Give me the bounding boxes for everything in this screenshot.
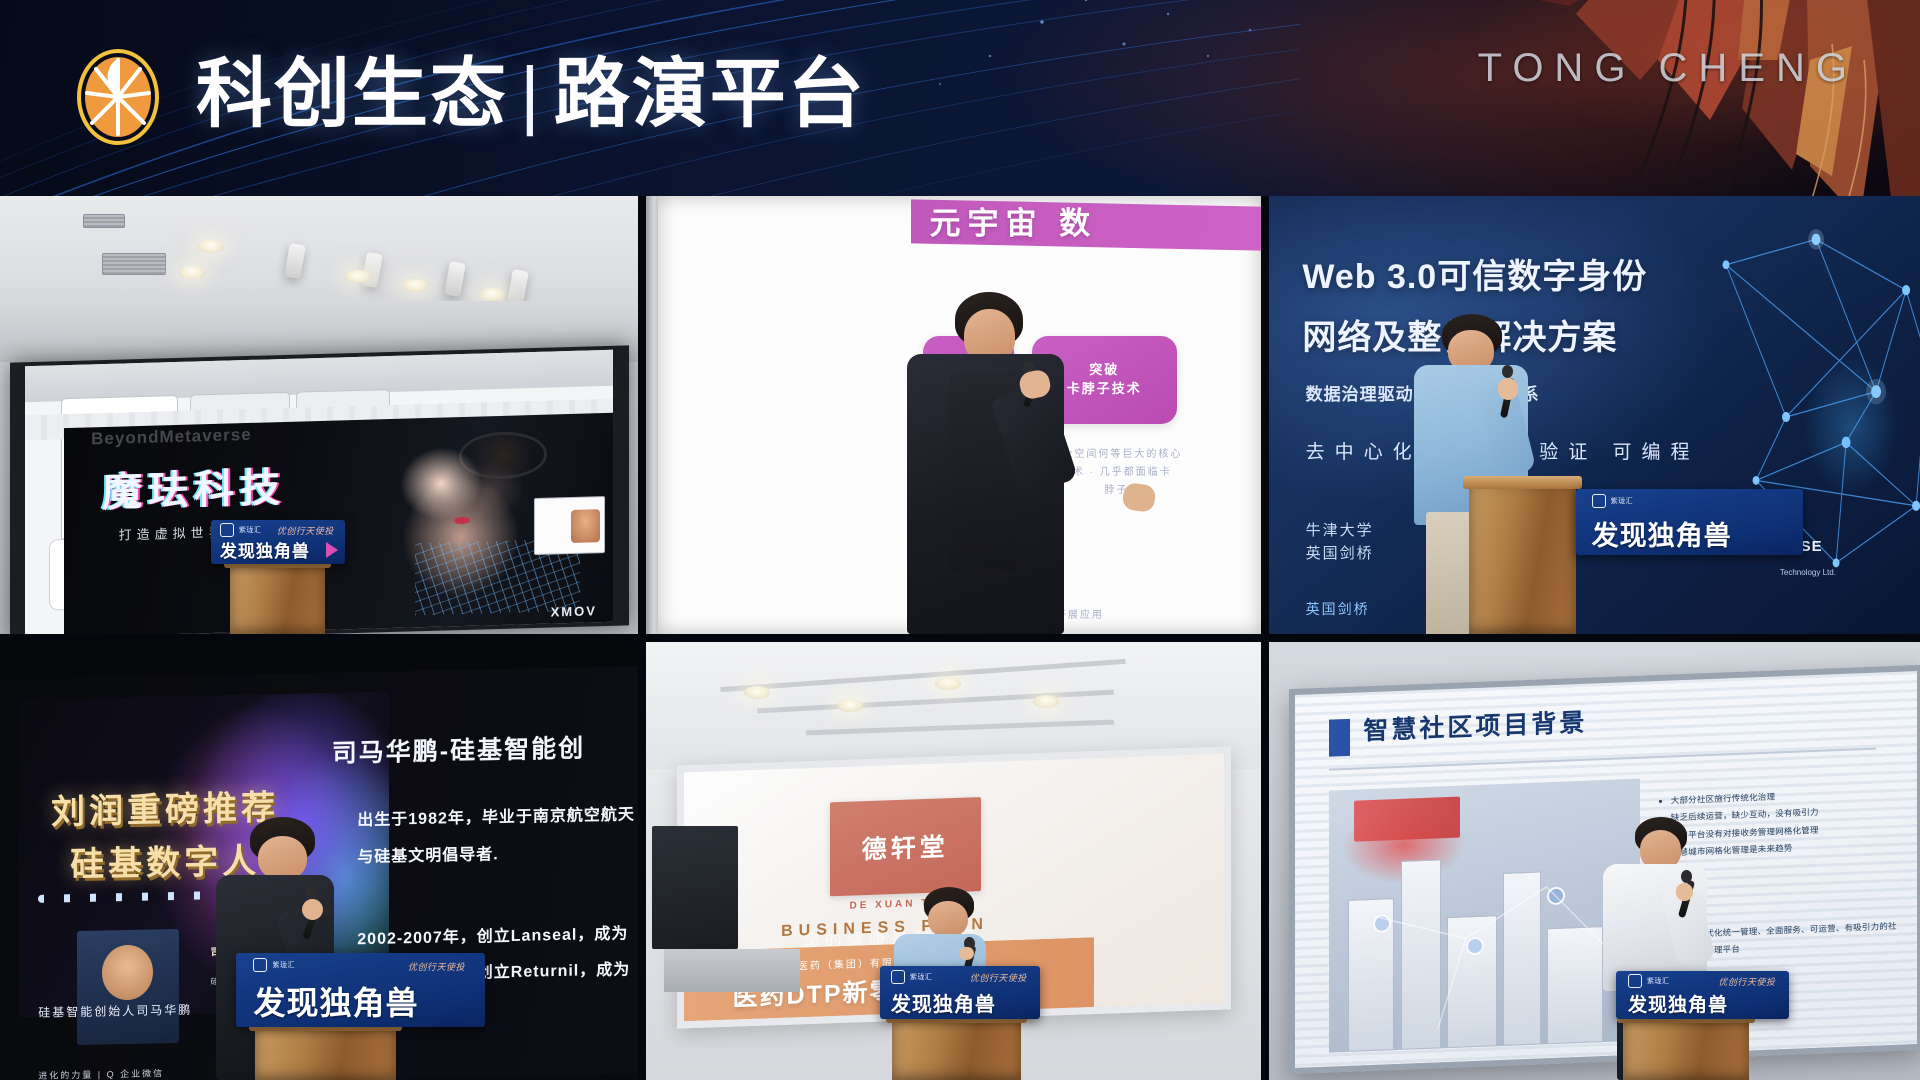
slide-footer-tag: 英国剑桥: [1306, 599, 1370, 619]
page-title: 科创生态|路演平台: [196, 40, 866, 150]
tile-smartcommunity[interactable]: 智慧社区项目背景: [1269, 642, 1920, 1080]
slide-footer: 牛津大学英国剑桥: [1306, 520, 1374, 565]
podium-nameboard: 紫珑汇 优创行天使投 发现独角兽: [236, 953, 485, 1027]
podium: [1469, 485, 1576, 634]
slide-root: 科创生态|路演平台 TONG CHENG: [0, 0, 1920, 1080]
brand-wordmark: TONG CHENG: [1478, 46, 1858, 91]
right-line3: 2002-2007年，创立Lanseal，成为: [357, 919, 628, 949]
slide-headline: 元宇宙 数: [930, 198, 1098, 243]
slide-headline: 魔珐科技: [102, 455, 286, 518]
side-monitor: [652, 826, 738, 949]
copper-shard-decoration: [1340, 0, 1920, 196]
photo-grid: BeyondMetaverse 魔珐科技 打造虚拟世界基础设施 XMOV: [0, 196, 1920, 1080]
tile-metaverse[interactable]: 元宇宙 数 字经济级升级 突破卡脖子技术 元宇宙的落地 产业空间何等巨大的核心技…: [646, 196, 1261, 634]
vendor-mark: XMOV: [550, 603, 596, 619]
podium-nameboard: 紫珑汇 优创行天使投 发现独角兽: [211, 520, 345, 564]
pip-video-window: [533, 496, 604, 555]
tile-dexuantang[interactable]: 德轩堂 DE XUAN TANG 您的健康是我们的 BUSINESS PLAN …: [646, 642, 1261, 1080]
board-main-text: 发现独角兽: [891, 988, 996, 1017]
shield-logo-icon: [220, 523, 234, 537]
podium: [230, 564, 326, 634]
podium-nameboard: 紫珑汇 发现独角兽: [1576, 489, 1803, 555]
slide-footer-brand-sub: Technology Ltd.: [1780, 568, 1836, 577]
board-main-text: 发现独角兽: [220, 537, 310, 562]
speaker: [880, 292, 1151, 634]
podium: [1623, 1019, 1750, 1080]
shield-logo-icon: [1628, 974, 1642, 988]
page-title-main: 科创生态: [196, 52, 508, 137]
orange-slice-logo-icon: [70, 49, 166, 145]
title-marker: [1329, 719, 1350, 757]
portrait-inset: [77, 928, 179, 1044]
podium: [255, 1027, 395, 1080]
podium-nameboard: 紫珑汇 优创行天使投 发现独角兽: [880, 966, 1040, 1019]
table: [664, 949, 799, 993]
tile-web3[interactable]: Web 3.0可信数字身份 网络及整体解决方案 数据治理驱动的数字身份体系 去中…: [1269, 196, 1920, 634]
tile-mofa[interactable]: BeyondMetaverse 魔珐科技 打造虚拟世界基础设施 XMOV: [0, 196, 638, 634]
shield-logo-icon: [253, 958, 267, 972]
slide-footer: 进化的力量 | Q 企业微信: [38, 1066, 164, 1080]
brand-stamp: 德轩堂: [829, 797, 980, 897]
shield-logo-icon: [1592, 494, 1606, 508]
page-title-divider: |: [508, 52, 554, 137]
page-title-sub: 路演平台: [554, 52, 866, 137]
podium: [892, 1019, 1021, 1080]
tile-silicon[interactable]: 刘润重磅推荐 硅基数字人! 司马华鹏 硅基智能创始人 进化的力量 | Q 企业微…: [0, 642, 638, 1080]
shield-logo-icon: [891, 970, 905, 984]
overlay-text: 硅基智能创始人司马华鹏: [38, 1000, 192, 1020]
board-main-text: 发现独角兽: [253, 978, 418, 1024]
slide-kicker: BeyondMetaverse: [91, 424, 252, 448]
board-main-text: 发现独角兽: [1592, 514, 1732, 553]
podium-nameboard: 紫珑汇 优创行天使投 发现独角兽: [1616, 971, 1789, 1019]
board-main-text: 发现独角兽: [1628, 990, 1728, 1017]
slide-header: 科创生态|路演平台 TONG CHENG: [0, 0, 1920, 196]
right-title: 司马华鹏-硅基智能创: [332, 728, 585, 769]
right-line1: 出生于1982年，毕业于南京航空航天: [357, 800, 635, 830]
slide-line1: Web 3.0可信数字身份: [1302, 249, 1647, 298]
